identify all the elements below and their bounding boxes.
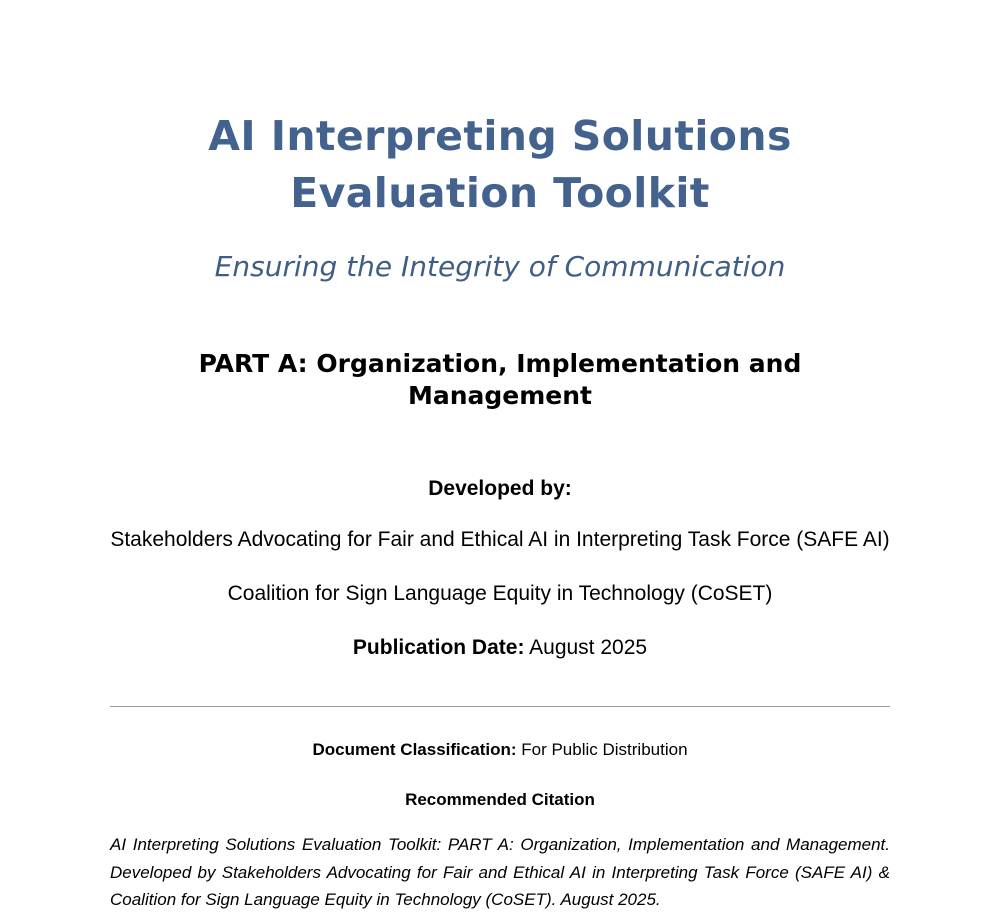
part-heading: PART A: Organization, Implementation and… <box>110 286 890 413</box>
document-classification-label: Document Classification: <box>312 740 516 759</box>
organization-safe-ai: Stakeholders Advocating for Fair and Eth… <box>110 502 890 556</box>
publication-date: Publication Date: August 2025 <box>110 610 890 661</box>
document-page: AI Interpreting Solutions Evaluation Too… <box>0 0 999 922</box>
document-classification: Document Classification: For Public Dist… <box>110 707 890 761</box>
organization-coset: Coalition for Sign Language Equity in Te… <box>110 556 890 610</box>
contact-information-heading: Contact Information <box>110 914 890 922</box>
recommended-citation-body: AI Interpreting Solutions Evaluation Too… <box>110 811 890 914</box>
publication-date-label: Publication Date: <box>353 636 525 659</box>
developed-by-label: Developed by: <box>110 413 890 502</box>
page-title: AI Interpreting Solutions Evaluation Too… <box>110 0 890 221</box>
page-subtitle: Ensuring the Integrity of Communication <box>110 221 890 285</box>
publication-date-value: August 2025 <box>529 636 647 659</box>
document-content-column: AI Interpreting Solutions Evaluation Too… <box>110 0 890 922</box>
page-title-line-2: Evaluation Toolkit <box>290 169 710 217</box>
recommended-citation-heading: Recommended Citation <box>110 761 890 811</box>
document-classification-value: For Public Distribution <box>521 740 687 759</box>
page-title-line-1: AI Interpreting Solutions <box>208 112 792 160</box>
